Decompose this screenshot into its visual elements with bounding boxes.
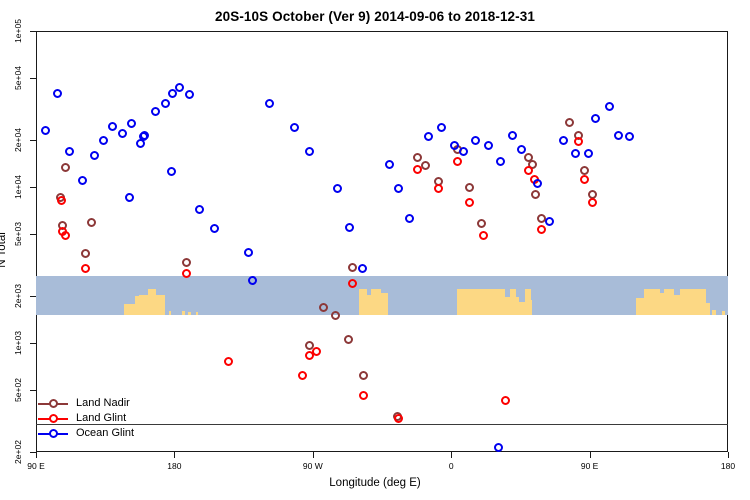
y-tick-label: 2e+04 (13, 128, 23, 152)
data-point-land_glint (224, 357, 233, 366)
data-point-ocean_glint (496, 157, 505, 166)
legend-item-ocean_glint[interactable]: Ocean Glint (38, 426, 148, 441)
x-tick-label: 180 (167, 461, 181, 471)
legend-item-land_nadir[interactable]: Land Nadir (38, 396, 148, 411)
landmass-shape (515, 302, 525, 315)
legend-marker-ocean_glint (49, 429, 58, 438)
data-point-land_nadir (580, 166, 589, 175)
x-tick-label: 180 (721, 461, 735, 471)
x-tick (590, 452, 591, 458)
x-tick-label: 90 E (581, 461, 599, 471)
data-point-land_nadir (319, 303, 328, 312)
data-point-ocean_glint (571, 149, 580, 158)
legend-item-land_glint[interactable]: Land Glint (38, 411, 148, 426)
legend-label: Ocean Glint (76, 426, 134, 441)
y-tick-label: 1e+05 (13, 19, 23, 43)
y-tick-label: 2e+03 (13, 284, 23, 308)
data-point-ocean_glint (484, 141, 493, 150)
x-tick-label: 90 E (27, 461, 45, 471)
landmass-shape (162, 307, 164, 315)
data-point-ocean_glint (78, 176, 87, 185)
data-point-land_glint (298, 371, 307, 380)
data-point-ocean_glint (385, 160, 394, 169)
y-tick-label: 5e+04 (13, 66, 23, 90)
x-tick (174, 452, 175, 458)
data-point-ocean_glint (118, 129, 127, 138)
data-point-ocean_glint (333, 184, 342, 193)
data-point-ocean_glint (508, 131, 517, 140)
y-axis-title: N Total (0, 232, 8, 268)
data-point-land_glint (312, 347, 321, 356)
x-tick (36, 452, 37, 458)
data-point-land_glint (61, 231, 70, 240)
data-point-ocean_glint (53, 89, 62, 98)
x-axis-title: Longitude (deg E) (0, 477, 750, 489)
y-tick-label: 5e+03 (13, 222, 23, 246)
data-point-ocean_glint (437, 123, 446, 132)
y-tick (30, 78, 36, 79)
data-point-land_nadir (331, 311, 340, 320)
legend-label: Land Nadir (76, 396, 130, 411)
data-point-ocean_glint (471, 136, 480, 145)
data-point-land_glint (524, 166, 533, 175)
data-point-ocean_glint (125, 193, 134, 202)
data-point-ocean_glint (167, 167, 176, 176)
y-tick-label: 1e+03 (13, 331, 23, 355)
data-point-land_nadir (81, 249, 90, 258)
data-point-ocean_glint (65, 147, 74, 156)
data-point-land_glint (453, 157, 462, 166)
landmass-shape (169, 311, 171, 315)
world-map-band (36, 276, 728, 316)
data-point-ocean_glint (175, 83, 184, 92)
x-tick (313, 452, 314, 458)
legend-marker-land_nadir (49, 399, 58, 408)
data-point-land_nadir (348, 263, 357, 272)
data-point-land_nadir (359, 371, 368, 380)
legend-marker-land_glint (49, 414, 58, 423)
data-point-land_nadir (531, 190, 540, 199)
data-point-ocean_glint (545, 217, 554, 226)
y-tick (30, 187, 36, 188)
data-point-land_glint (580, 175, 589, 184)
data-point-land_glint (574, 137, 583, 146)
data-point-ocean_glint (533, 179, 542, 188)
data-point-ocean_glint (625, 132, 634, 141)
x-tick-label: 90 W (303, 461, 323, 471)
data-point-ocean_glint (265, 99, 274, 108)
data-point-land_glint (81, 264, 90, 273)
data-point-ocean_glint (559, 136, 568, 145)
y-tick-label: 2e+02 (13, 440, 23, 464)
y-tick (30, 343, 36, 344)
data-point-land_glint (182, 269, 191, 278)
data-point-land_nadir (344, 335, 353, 344)
data-point-land_nadir (477, 219, 486, 228)
landmass-shape (182, 311, 185, 315)
data-point-land_nadir (182, 258, 191, 267)
data-point-ocean_glint (90, 151, 99, 160)
data-point-ocean_glint (41, 126, 50, 135)
data-point-ocean_glint (151, 107, 160, 116)
landmass-shape (156, 305, 160, 315)
data-point-ocean_glint (290, 123, 299, 132)
data-point-ocean_glint (450, 141, 459, 150)
landmass-shape (712, 310, 716, 315)
data-point-ocean_glint (494, 443, 503, 452)
landmass-shape (188, 312, 191, 315)
data-point-land_nadir (465, 183, 474, 192)
data-point-land_glint (501, 396, 510, 405)
data-point-ocean_glint (614, 131, 623, 140)
y-tick (30, 296, 36, 297)
data-point-land_glint (465, 198, 474, 207)
landmass-shape (386, 308, 388, 315)
data-point-land_glint (434, 184, 443, 193)
data-point-land_nadir (565, 118, 574, 127)
data-point-ocean_glint (139, 132, 148, 141)
data-point-ocean_glint (605, 102, 614, 111)
data-point-ocean_glint (127, 119, 136, 128)
data-point-land_glint (537, 225, 546, 234)
landmass-shape (528, 300, 532, 315)
y-tick (30, 390, 36, 391)
data-point-ocean_glint (108, 122, 117, 131)
data-point-land_nadir (413, 153, 422, 162)
data-point-land_glint (394, 414, 403, 423)
y-tick (30, 234, 36, 235)
chart-root: 20S-10S October (Ver 9) 2014-09-06 to 20… (0, 0, 750, 500)
landmass-shape (704, 303, 710, 315)
legend-label: Land Glint (76, 411, 126, 426)
data-point-ocean_glint (405, 214, 414, 223)
plot-area (36, 31, 728, 452)
data-point-land_glint (413, 165, 422, 174)
data-point-ocean_glint (358, 264, 367, 273)
data-point-ocean_glint (517, 145, 526, 154)
data-point-ocean_glint (424, 132, 433, 141)
data-point-ocean_glint (210, 224, 219, 233)
landmass-shape (457, 289, 471, 315)
data-point-ocean_glint (244, 248, 253, 257)
landmass-shape (148, 289, 156, 315)
data-point-land_nadir (421, 161, 430, 170)
data-point-ocean_glint (195, 205, 204, 214)
landmass-shape (359, 289, 367, 315)
x-tick (451, 452, 452, 458)
x-tick-label: 0 (449, 461, 454, 471)
data-point-land_glint (359, 391, 368, 400)
chart-legend: Land NadirLand GlintOcean Glint (38, 396, 148, 441)
data-point-land_nadir (87, 218, 96, 227)
y-tick-label: 1e+04 (13, 175, 23, 199)
data-point-ocean_glint (394, 184, 403, 193)
landmass-shape (471, 289, 505, 315)
data-point-land_nadir (588, 190, 597, 199)
data-point-ocean_glint (99, 136, 108, 145)
x-tick (728, 452, 729, 458)
data-point-ocean_glint (185, 90, 194, 99)
data-point-ocean_glint (305, 147, 314, 156)
data-point-ocean_glint (584, 149, 593, 158)
data-point-land_glint (479, 231, 488, 240)
y-tick (30, 140, 36, 141)
landmass-shape (196, 312, 198, 315)
data-point-land_glint (57, 196, 66, 205)
data-point-land_nadir (61, 163, 70, 172)
landmass-shape (722, 311, 725, 315)
page-title: 20S-10S October (Ver 9) 2014-09-06 to 20… (0, 9, 750, 24)
y-tick (30, 31, 36, 32)
data-point-ocean_glint (459, 147, 468, 156)
y-tick-label: 5e+02 (13, 378, 23, 402)
data-point-ocean_glint (345, 223, 354, 232)
data-point-ocean_glint (161, 99, 170, 108)
data-point-ocean_glint (591, 114, 600, 123)
data-point-land_glint (588, 198, 597, 207)
